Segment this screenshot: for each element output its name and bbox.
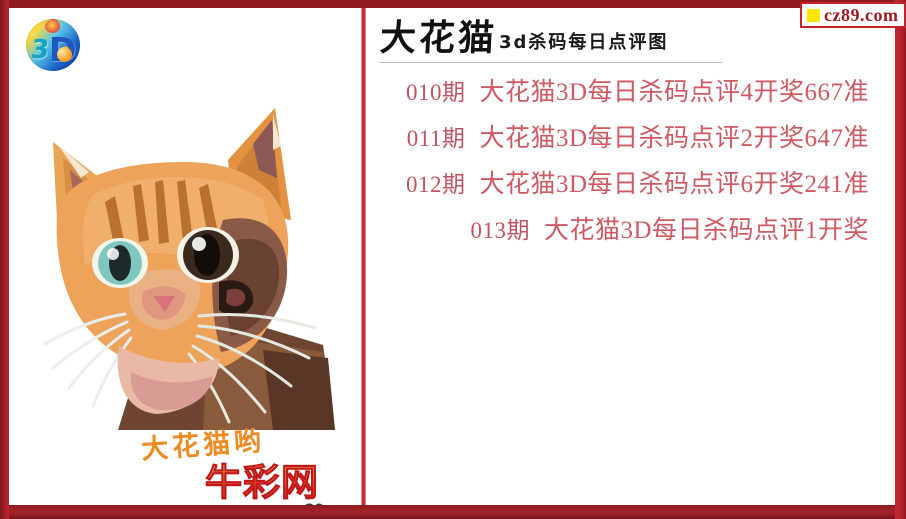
left-image-panel: 3 D (9, 8, 361, 505)
row-body: 大花猫3D每日杀码点评6开奖241准 (479, 171, 869, 198)
lottery-chart-page: 3 D (0, 0, 906, 519)
row-body: 大花猫3D每日杀码点评1开奖 (544, 217, 869, 244)
badge-yellow-square-icon (807, 9, 820, 22)
frame-bottom-border (0, 505, 906, 519)
cat-illustration (23, 100, 353, 430)
list-item[interactable]: 010期大花猫3D每日杀码点评4开奖667准 (366, 70, 891, 116)
logo-digit-three: 3 (30, 37, 51, 63)
row-period: 010期 (406, 80, 466, 105)
row-body: 大花猫3D每日杀码点评4开奖667准 (479, 79, 869, 106)
logo-orange-ball (57, 47, 72, 62)
badge-site-text: cz89.com (824, 6, 898, 24)
site-logo-badge[interactable]: cz89.com (800, 2, 906, 28)
frame-right-border (895, 0, 906, 519)
right-content-panel: 大花猫3d杀码每日点评图 010期大花猫3D每日杀码点评4开奖667准 011期… (366, 8, 895, 505)
title-underline (380, 62, 722, 63)
row-body: 大花猫3D每日杀码点评2开奖647准 (479, 125, 869, 152)
frame-top-border (0, 0, 906, 8)
frame-left-border (0, 0, 9, 519)
row-period: 011期 (407, 126, 466, 151)
forecast-list: 010期大花猫3D每日杀码点评4开奖667准 011期大花猫3D每日杀码点评2开… (366, 70, 891, 254)
title-main: 大花猫 (379, 16, 498, 60)
cat-illustration-svg (23, 100, 353, 430)
list-item[interactable]: 013期大花猫3D每日杀码点评1开奖 (366, 208, 891, 254)
row-period: 013期 (470, 218, 530, 243)
watermark-brand: 牛彩网 (205, 463, 361, 503)
list-item[interactable]: 011期大花猫3D每日杀码点评2开奖647准 (366, 116, 891, 162)
3d-lottery-logo-icon: 3 D (22, 17, 84, 73)
site-watermark: 牛彩网 www.cz89.com (205, 463, 361, 505)
row-period: 012期 (406, 172, 466, 197)
list-item[interactable]: 012期大花猫3D每日杀码点评6开奖241准 (366, 162, 891, 208)
title-sub: 3d杀码每日点评图 (499, 28, 668, 54)
